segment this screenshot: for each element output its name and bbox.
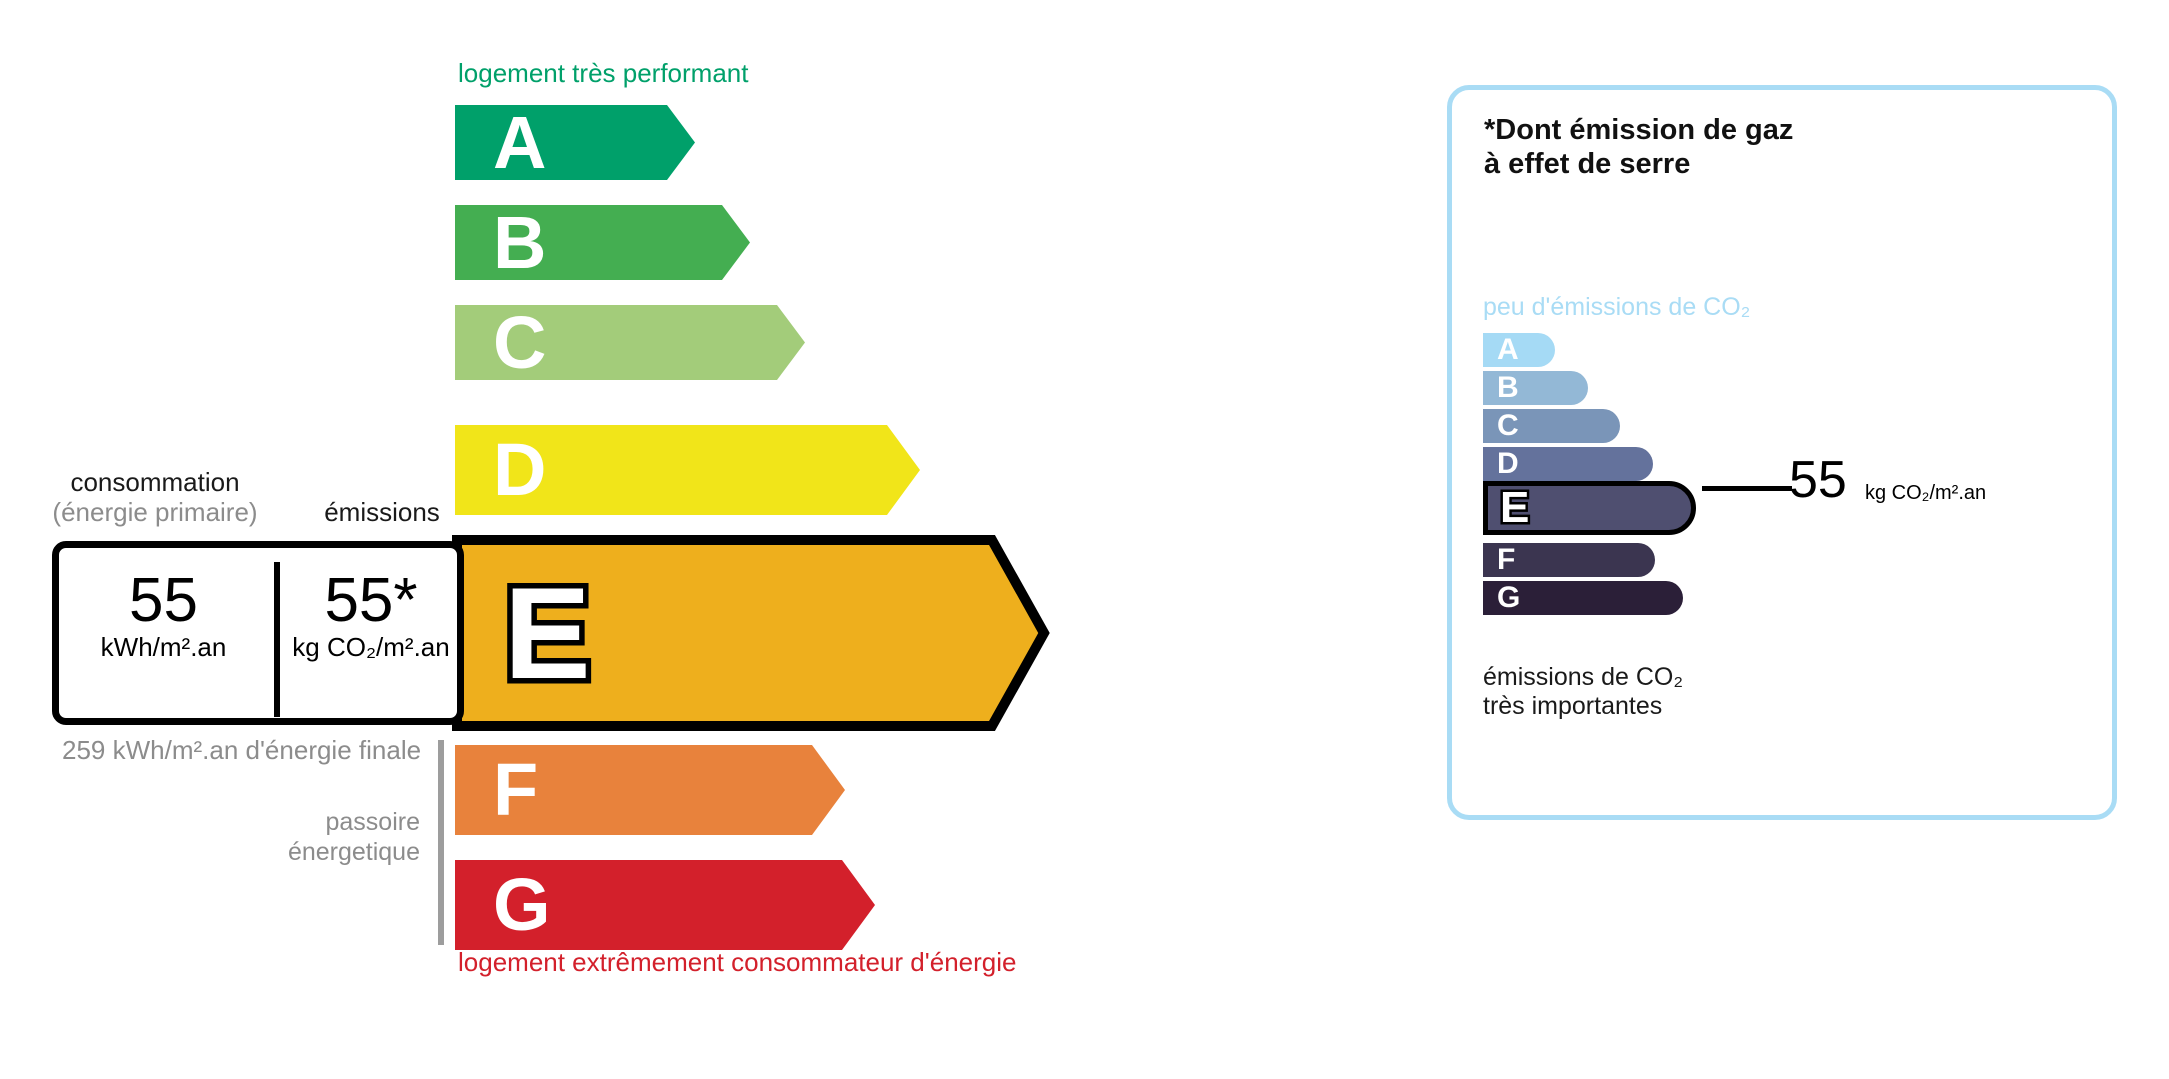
- co2-bar-g-letter: G: [1497, 583, 1520, 613]
- ges-emission-unit: kg CO₂/m².an: [281, 633, 461, 662]
- co2-bar-e-letter: E: [1500, 486, 1529, 530]
- co2-caption-low: peu d'émissions de CO₂: [1483, 293, 1750, 322]
- co2-bar-d-letter: D: [1497, 449, 1519, 479]
- co2-panel-title: *Dont émission de gaz à effet de serre: [1484, 113, 1793, 181]
- energy-band-c[interactable]: C: [455, 305, 805, 380]
- ges-emission-value: 55*: [281, 568, 461, 635]
- passoire-divider: [438, 740, 444, 945]
- co2-bar-c-letter: C: [1497, 411, 1519, 441]
- energy-band-f-letter: F: [493, 753, 538, 827]
- co2-bar-c[interactable]: C: [1483, 409, 1620, 443]
- co2-bar-b[interactable]: B: [1483, 371, 1588, 405]
- value-box-divider: [274, 562, 280, 717]
- co2-bar-a-letter: A: [1497, 335, 1519, 365]
- co2-panel: *Dont émission de gaz à effet de serre p…: [1447, 85, 2117, 820]
- co2-bar-f[interactable]: F: [1483, 543, 1655, 577]
- energy-band-d[interactable]: D: [455, 425, 920, 515]
- energy-band-g[interactable]: G: [455, 860, 875, 950]
- energy-band-f[interactable]: F: [455, 745, 845, 835]
- co2-bar-g[interactable]: G: [1483, 581, 1683, 615]
- co2-bar-b-letter: B: [1497, 373, 1519, 403]
- co2-caption-high: émissions de CO₂ très importantes: [1483, 663, 1683, 721]
- final-energy-note: 259 kWh/m².an d'énergie finale: [62, 735, 421, 766]
- svg-text:E: E: [504, 560, 591, 706]
- caption-extremely-consuming: logement extrêmement consommateur d'éner…: [458, 947, 1016, 978]
- energy-band-b[interactable]: B: [455, 205, 750, 280]
- co2-bar-f-letter: F: [1497, 545, 1515, 575]
- energy-consumption-unit: kWh/m².an: [61, 633, 266, 662]
- co2-bar-d[interactable]: D: [1483, 447, 1653, 481]
- energy-band-e-selected[interactable]: E: [452, 535, 1052, 731]
- energy-band-a[interactable]: A: [455, 105, 695, 180]
- co2-callout-value: 55: [1789, 454, 1847, 506]
- co2-bar-e-selected[interactable]: E: [1483, 481, 1696, 535]
- energy-band-d-letter: D: [493, 433, 546, 507]
- energy-band-b-letter: B: [493, 206, 546, 280]
- value-box: 55 kWh/m².an 55* kg CO₂/m².an: [52, 541, 464, 725]
- energy-band-c-letter: C: [493, 306, 546, 380]
- co2-bar-a[interactable]: A: [1483, 333, 1555, 367]
- dpe-energy-ladder: logement très performant A B C D E: [0, 0, 1380, 1079]
- energy-band-a-letter: A: [493, 106, 546, 180]
- label-energie-primaire: (énergie primaire): [22, 497, 288, 528]
- energy-consumption-value: 55: [61, 568, 266, 635]
- caption-very-efficient: logement très performant: [458, 58, 748, 89]
- ges-emission-cell: 55* kg CO₂/m².an: [281, 568, 461, 713]
- label-consommation: consommation: [40, 467, 270, 498]
- label-emissions: émissions: [302, 497, 462, 528]
- energy-band-g-letter: G: [493, 868, 551, 942]
- passoire-label: passoire énergetique: [225, 808, 420, 867]
- energy-consumption-cell: 55 kWh/m².an: [61, 568, 266, 713]
- co2-callout-unit: kg CO₂/m².an: [1865, 483, 1986, 503]
- co2-callout-leader-line: [1702, 486, 1792, 491]
